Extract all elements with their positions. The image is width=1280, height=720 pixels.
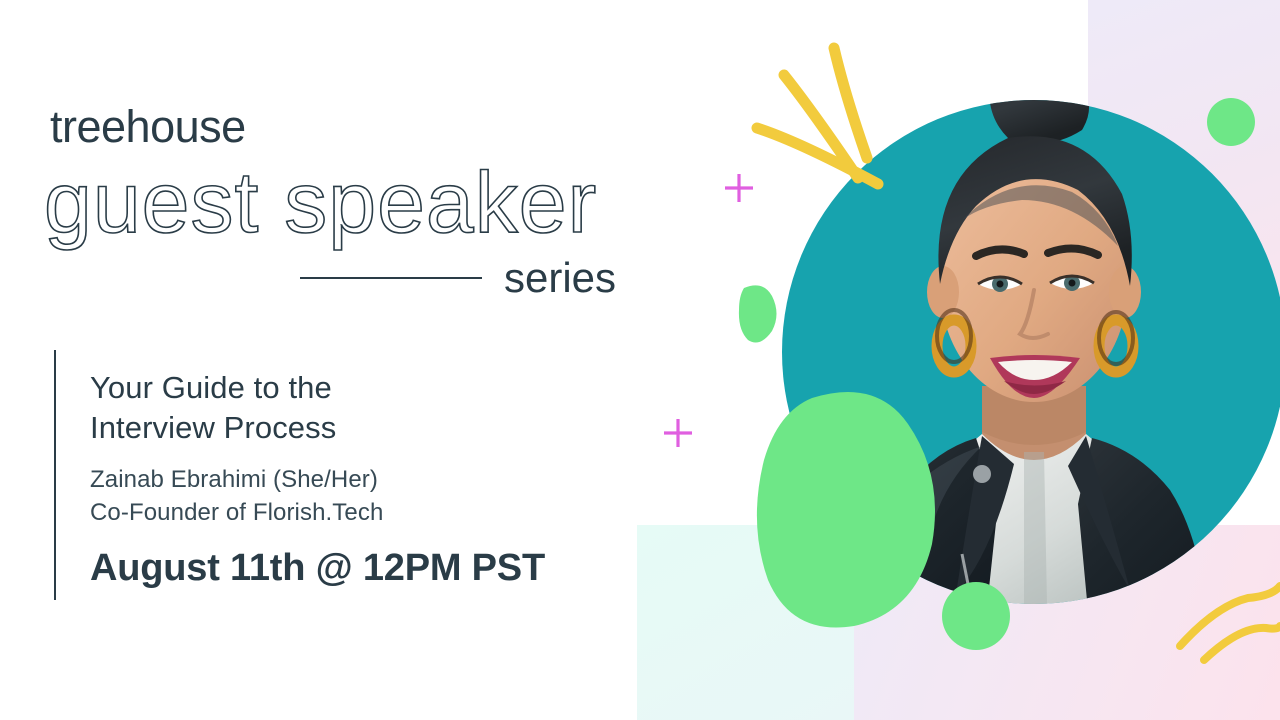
text-column: treehouse guest speaker series Your Guid… [0, 0, 660, 720]
brand-wordmark: treehouse [50, 104, 246, 149]
talk-title: Your Guide to the Interview Process [90, 368, 610, 447]
promo-slide: treehouse guest speaker series Your Guid… [0, 0, 1280, 720]
vertical-accent-rule [54, 350, 56, 600]
yellow-wave-strokes [1180, 586, 1280, 660]
speaker-role: Co-Founder of Florish.Tech [90, 496, 610, 529]
series-row: series [300, 254, 630, 302]
green-blob-large [757, 392, 935, 628]
green-circle-small [942, 582, 1010, 650]
headline-outline-text: guest speaker [44, 160, 597, 246]
series-label: series [504, 257, 616, 299]
speaker-name: Zainab Ebrahimi (She/Her) [90, 463, 610, 496]
series-divider-rule [300, 277, 482, 279]
talk-details-block: Your Guide to the Interview Process Zain… [90, 368, 610, 589]
event-datetime: August 11th @ 12PM PST [90, 548, 610, 590]
